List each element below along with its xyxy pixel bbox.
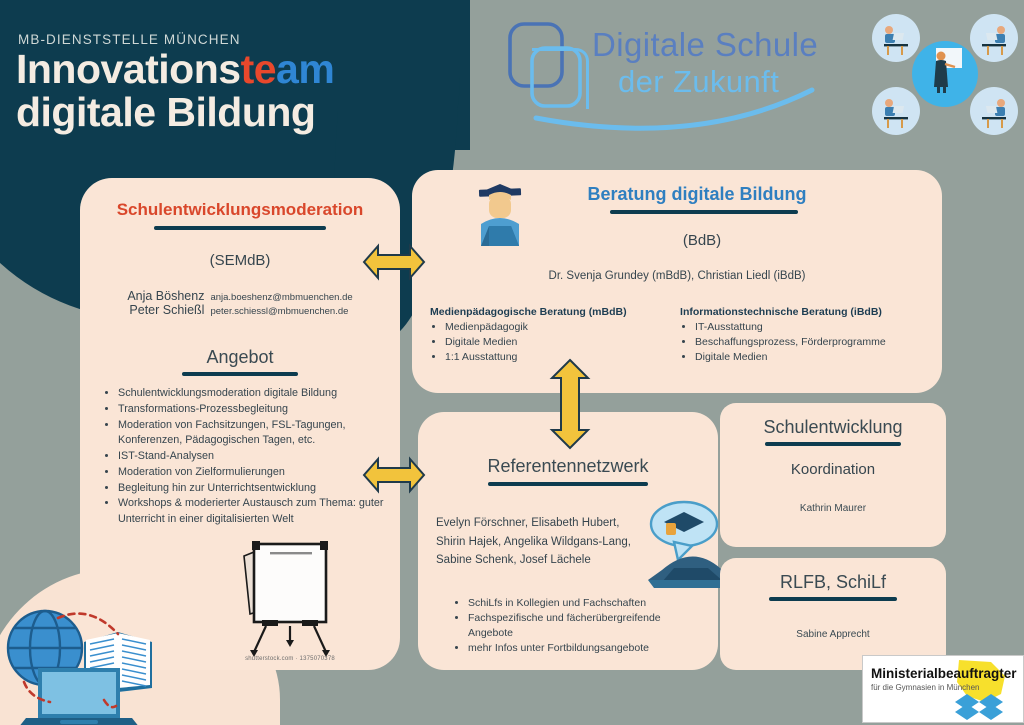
logo-line2: der Zukunft	[618, 64, 779, 100]
bdb-title: Beratung digitale Bildung	[470, 184, 924, 205]
list-item: SchiLfs in Kollegien und Fachschaften	[468, 596, 700, 611]
list-item: mehr Infos unter Fortbildungsangebote	[468, 641, 700, 656]
globe-book-laptop-icon	[0, 600, 180, 725]
title-line2: digitale Bildung	[16, 89, 315, 135]
bdb-title-rule	[610, 210, 798, 214]
arrow-sem-to-bdb	[362, 237, 426, 292]
title-part1: Innovations	[16, 46, 241, 92]
se-title-rule	[765, 442, 901, 446]
list-item: IT-Ausstattung	[695, 320, 924, 335]
semdb-offer-list: Schulentwicklungsmoderation digitale Bil…	[96, 386, 384, 528]
se-title: Schulentwicklung	[734, 417, 932, 438]
image-credit: shutterstock.com · 1375070378	[228, 656, 352, 662]
people-cluster-icon	[872, 12, 1018, 137]
bdb-abbrev: (BdB)	[480, 232, 924, 249]
list-item: Fachspezifische und fächerübergreifende …	[468, 611, 700, 641]
ref-title-rule	[488, 482, 648, 486]
list-item: Moderation von Zielformulierungen	[118, 465, 384, 481]
ref-names: Evelyn Förschner, Elisabeth Hubert, Shir…	[436, 514, 644, 570]
poster-canvas: MB-DIENSTSTELLE MÜNCHEN Innovationsteam …	[0, 0, 1024, 725]
semdb-title-rule	[154, 226, 326, 230]
bdb-column-mbdb: Medienpädagogische Beratung (mBdB) Medie…	[430, 306, 668, 365]
arrow-bdb-to-ref	[545, 358, 595, 455]
title-accent-blue: am	[276, 46, 334, 92]
graduate-laptop-icon	[467, 176, 533, 257]
bdb-column-heading: Medienpädagogische Beratung (mBdB)	[430, 306, 668, 318]
title-accent-red: te	[241, 46, 276, 92]
bdb-column-heading: Informationstechnische Beratung (iBdB)	[680, 306, 924, 318]
mb-logo-line2: für die Gymnasien in München	[871, 683, 980, 692]
semdb-people: Anja Böshenz Peter Schießl anja.boeshenz…	[96, 289, 384, 317]
list-item: Schulentwicklungsmoderation digitale Bil…	[118, 386, 384, 402]
semdb-offer-title: Angebot	[96, 347, 384, 368]
semdb-title: Schulentwicklungsmoderation	[96, 200, 384, 220]
rlfb-person: Sabine Apprecht	[734, 629, 932, 640]
rlfb-title: RLFB, SchiLf	[734, 572, 932, 593]
semdb-person-email-0[interactable]: anja.boeshenz@mbmuenchen.de	[210, 292, 352, 303]
list-item: Transformations-Prozessbegleitung	[118, 402, 384, 418]
se-subtitle: Koordination	[734, 461, 932, 478]
ref-list: SchiLfs in Kollegien und Fachschaften Fa…	[436, 596, 700, 656]
list-item: Moderation von Fachsitzungen, FSL-Tagung…	[118, 418, 384, 450]
list-item: Beschaffungsprozess, Förderprogramme	[695, 335, 924, 350]
rlfb-title-rule	[769, 597, 897, 601]
mb-logo-line1: Ministerialbeauftragter	[871, 666, 1017, 681]
list-item: IST-Stand-Analysen	[118, 449, 384, 465]
bdb-columns: Medienpädagogische Beratung (mBdB) Medie…	[430, 306, 924, 365]
list-item: Begleitung hin zur Unterrichtsentwicklun…	[118, 481, 384, 497]
list-item: Digitale Medien	[445, 335, 668, 350]
kicker-text: MB-DIENSTSTELLE MÜNCHEN	[18, 32, 241, 47]
ref-title: Referentennetzwerk	[436, 456, 700, 477]
list-item: Digitale Medien	[695, 350, 924, 365]
bdb-column-ibdb: Informationstechnische Beratung (iBdB) I…	[680, 306, 924, 365]
card-rlfb-schilf[interactable]: RLFB, SchiLf Sabine Apprecht	[720, 558, 946, 670]
page-title: Innovationsteam digitale Bildung	[16, 48, 334, 135]
ministerialbeauftragter-logo: Ministerialbeauftragter für die Gymnasie…	[862, 655, 1024, 723]
list-item: Medienpädagogik	[445, 320, 668, 335]
digitale-schule-logo: Digitale Schule der Zukunft	[500, 12, 860, 142]
semdb-person-email-1[interactable]: peter.schiessl@mbmuenchen.de	[210, 306, 352, 317]
arrow-sem-to-ref	[362, 450, 426, 505]
semdb-abbrev: (SEMdB)	[96, 252, 384, 269]
bdb-people-line: Dr. Svenja Grundey (mBdB), Christian Lie…	[430, 270, 924, 282]
card-beratung-digitale-bildung[interactable]: Beratung digitale Bildung (BdB) Dr. Sven…	[412, 170, 942, 393]
semdb-person-name-1: Peter Schießl	[127, 303, 204, 317]
bdb-column-list: IT-Ausstattung Beschaffungsprozess, Förd…	[680, 320, 924, 365]
flipchart-icon	[232, 522, 348, 662]
card-schulentwicklung[interactable]: Schulentwicklung Koordination Kathrin Ma…	[720, 403, 946, 547]
se-person: Kathrin Maurer	[734, 503, 932, 514]
logo-line1: Digitale Schule	[592, 26, 818, 64]
semdb-offer-rule	[182, 372, 298, 376]
semdb-person-name-0: Anja Böshenz	[127, 289, 204, 303]
